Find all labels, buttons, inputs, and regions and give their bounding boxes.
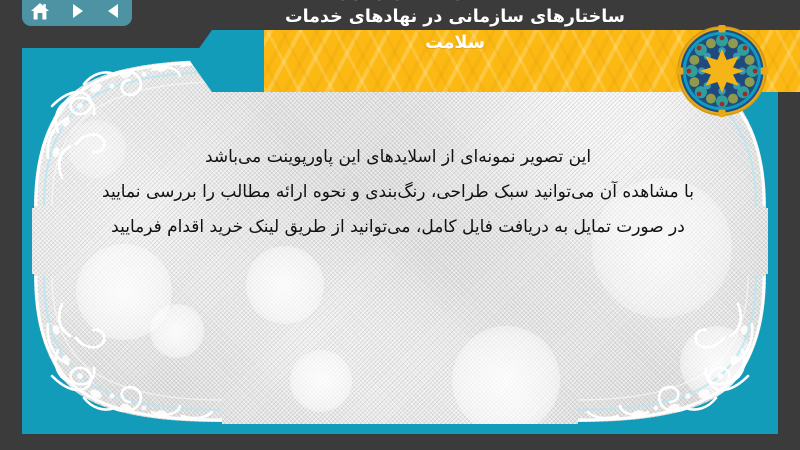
home-button[interactable] bbox=[27, 0, 53, 22]
bokeh-circle bbox=[452, 326, 560, 424]
slide-canvas: کامل شناسایی عوامل مؤثر بر چابکی ساختاره… bbox=[0, 0, 800, 450]
next-slide-button[interactable] bbox=[64, 0, 90, 22]
bokeh-circle bbox=[150, 304, 204, 358]
bokeh-circle bbox=[246, 246, 324, 324]
bokeh-circle bbox=[76, 244, 172, 340]
previous-slide-button[interactable] bbox=[101, 0, 127, 22]
bokeh-circle bbox=[680, 326, 754, 400]
slide-title: کامل شناسایی عوامل مؤثر بر چابکی ساختاره… bbox=[220, 0, 690, 56]
home-icon bbox=[30, 2, 50, 21]
slide-body-text: این تصویر نمونه‌ای از اسلایدهای این پاور… bbox=[42, 140, 754, 245]
bokeh-circle bbox=[290, 350, 352, 412]
navigation-bar bbox=[22, 0, 132, 26]
triangle-left-icon bbox=[105, 2, 123, 20]
triangle-right-icon bbox=[68, 2, 86, 20]
persian-medallion-ornament-icon bbox=[676, 25, 768, 117]
